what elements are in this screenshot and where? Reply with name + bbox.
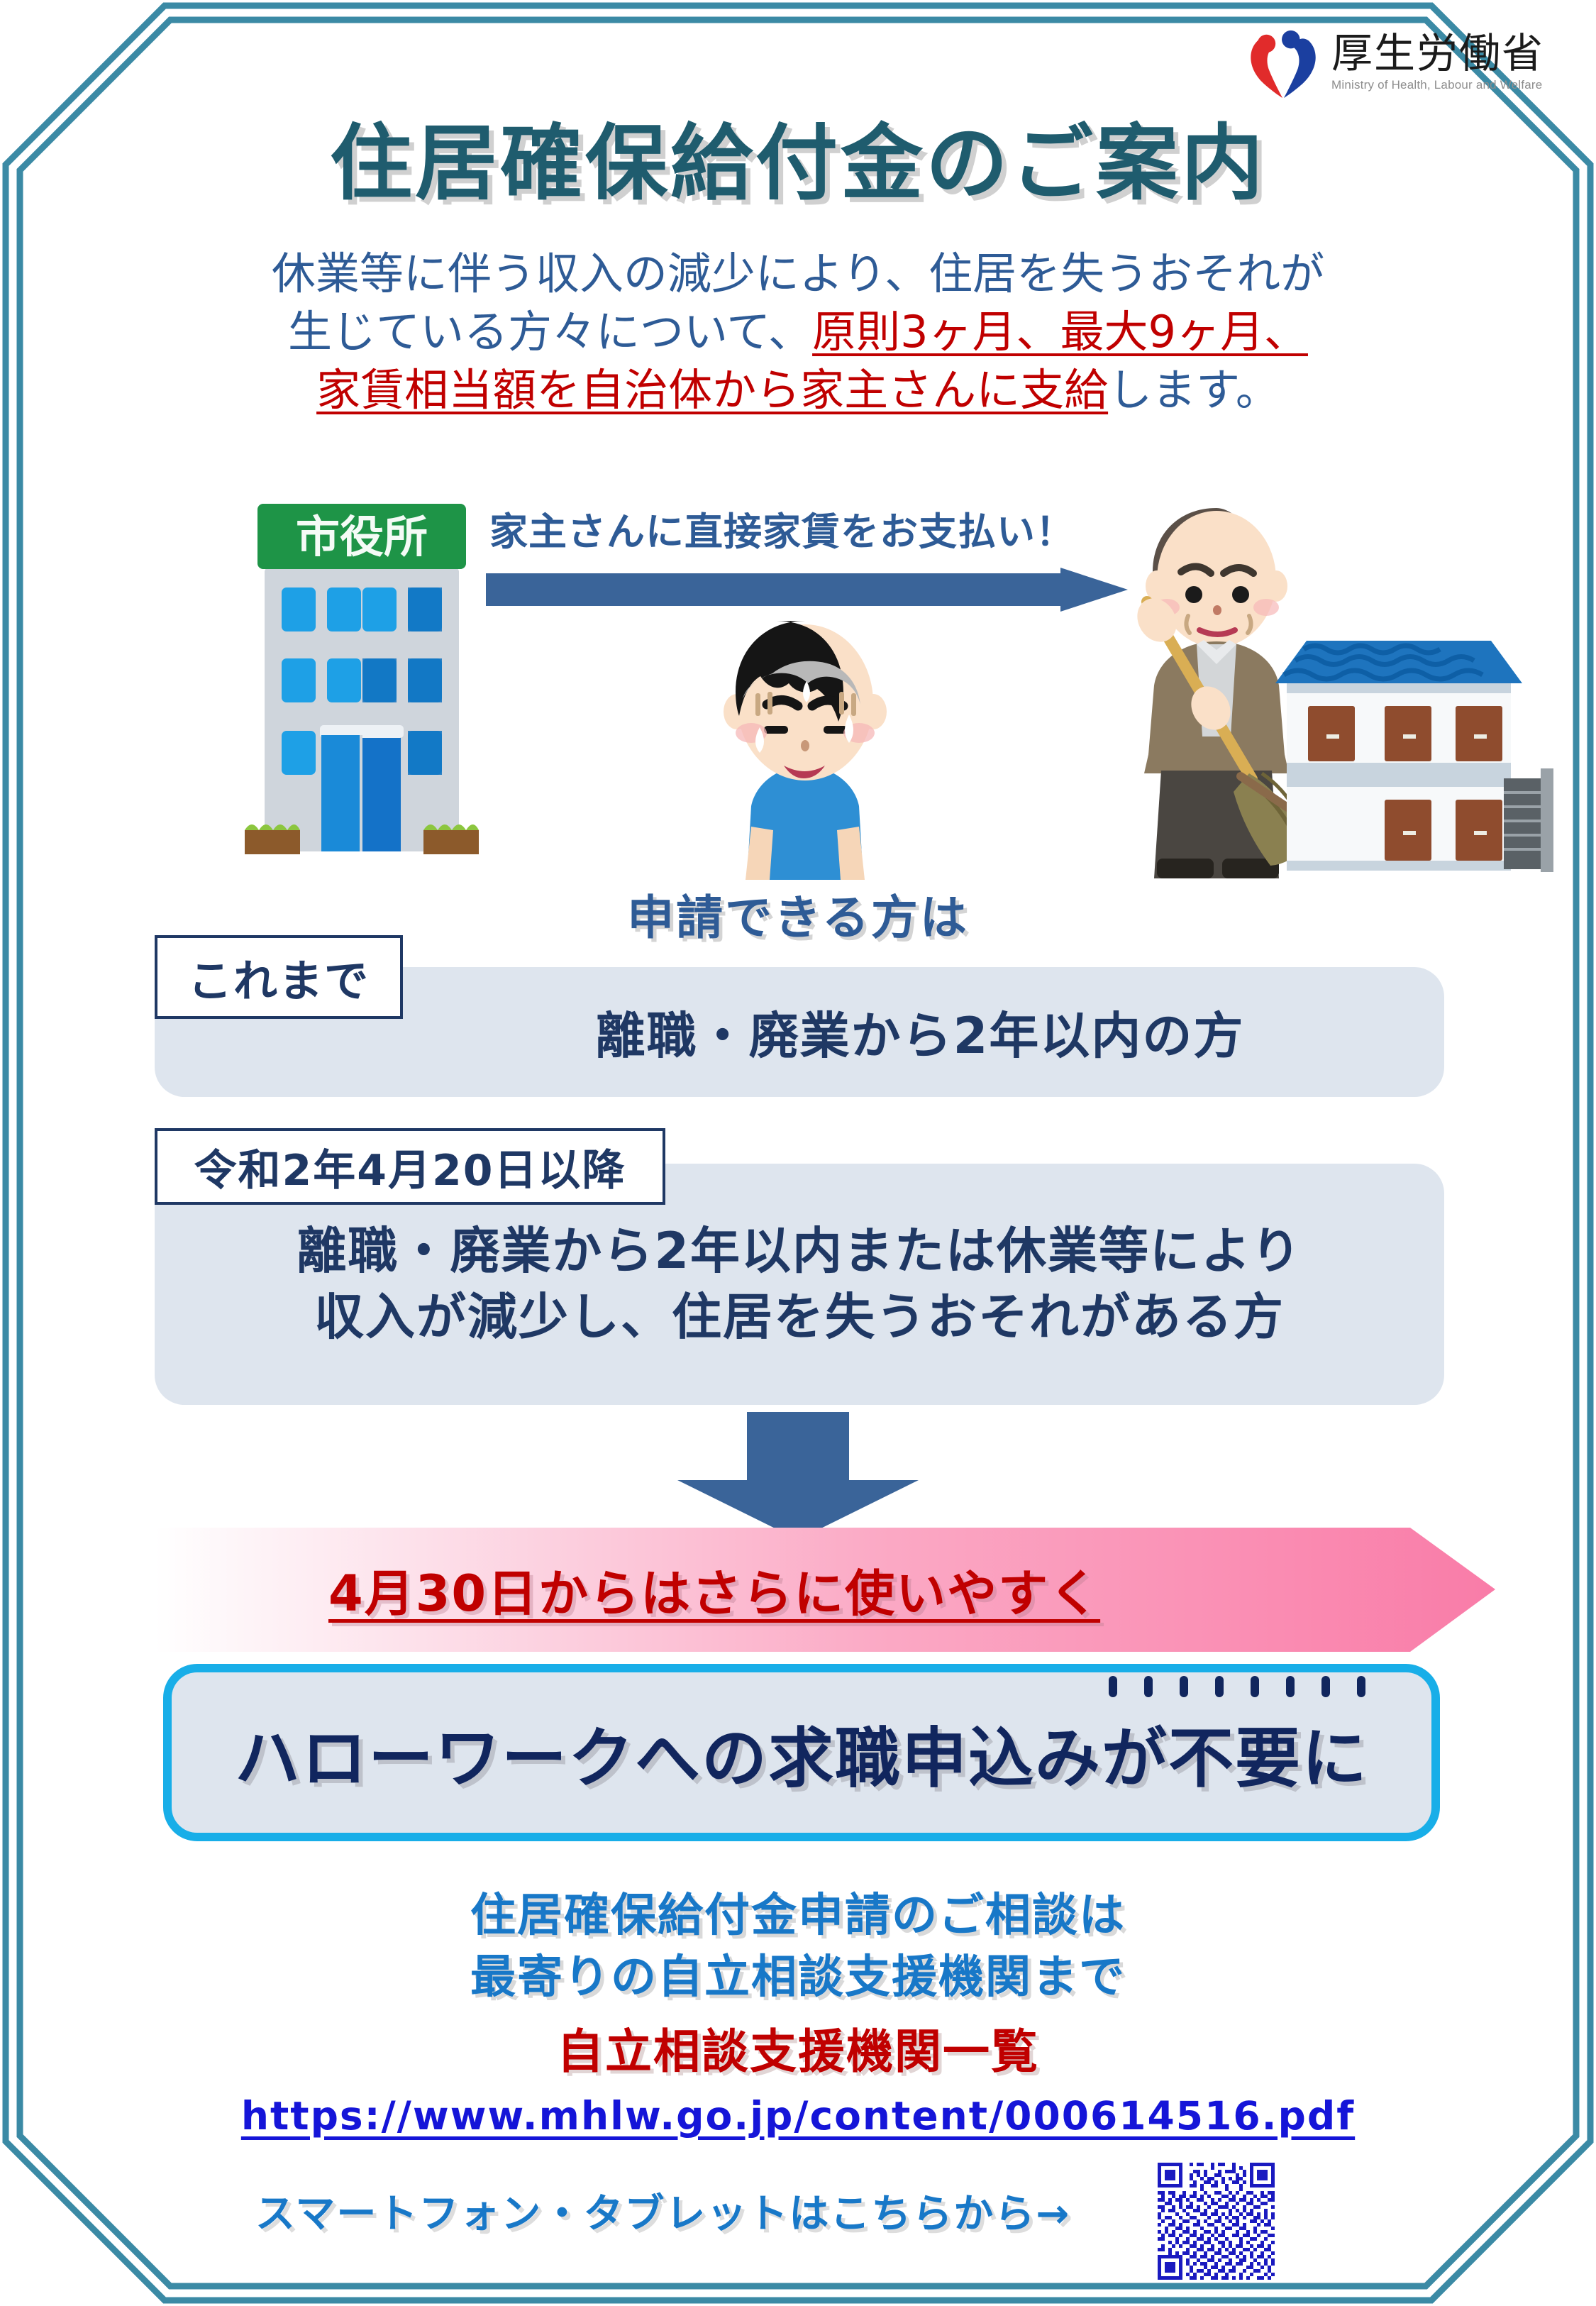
worried-boy-illustration-icon [699, 614, 911, 880]
illustration-band: 市役所 家主さんに直接家賃をお支払い！ [0, 490, 1596, 887]
apartment-house-illustration-icon [1263, 614, 1561, 880]
svg-text:市役所: 市役所 [296, 511, 428, 563]
lead-paragraph: 休業等に伴う収入の減少により、住居を失うおそれが 生じている方々について、原則3… [128, 245, 1468, 419]
eligibility-past-text: 離職・廃業から2年以内の方 [596, 996, 1245, 1068]
ministry-name-en: Ministry of Health, Labour and Welfare [1331, 78, 1544, 92]
lead-line-3-plain: します。 [1108, 364, 1280, 416]
ministry-logo: 厚生労働省 Ministry of Health, Labour and Wel… [1245, 20, 1578, 105]
update-highlight-text: ハローワークへの求職申込みが不要に [235, 1706, 1368, 1800]
footer-line-1: 住居確保給付金申請のご相談は [0, 1879, 1596, 1944]
footer-mobile-note: スマートフォン・タブレットはこちらから→ [255, 2182, 1070, 2239]
emphasis-dots [1109, 1676, 1365, 1697]
payment-arrow-label: 家主さんに直接家賃をお支払い！ [489, 500, 1075, 556]
poster-root: 厚生労働省 Ministry of Health, Labour and Wel… [0, 0, 1596, 2306]
lead-line-2-plain: 生じている方々について、 [288, 306, 812, 358]
update-banner: 4月30日からはさらに使いやすく [155, 1528, 1495, 1652]
eligibility-current-badge: 令和2年4月20日以降 [155, 1128, 665, 1205]
footer-list-title: 自立相談支援機関一覧 [0, 2014, 1596, 2082]
mhlw-heart-people-logo-icon [1245, 26, 1321, 99]
page-title: 住居確保給付金のご案内 [0, 119, 1596, 208]
eligibility-current-line-1: 離職・廃業から2年以内または休業等により [297, 1218, 1302, 1284]
qr-code-icon[interactable] [1158, 2163, 1275, 2280]
lead-line-2-emphasis: 原則3ヶ月、最大9ヶ月、 [812, 306, 1308, 358]
down-arrow-icon [677, 1412, 919, 1540]
lead-line-3-emphasis: 家賃相当額を自治体から家主さんに支給 [316, 364, 1108, 416]
update-highlight-box: ハローワークへの求職申込みが不要に [163, 1664, 1440, 1841]
ministry-name-ja: 厚生労働省 [1331, 33, 1544, 75]
right-arrow-icon [486, 568, 1128, 612]
update-banner-text: 4月30日からはさらに使いやすく [155, 1528, 1495, 1652]
eligibility-past-badge: これまで [155, 935, 403, 1019]
footer-url-link[interactable]: https://www.mhlw.go.jp/content/000614516… [0, 2093, 1596, 2139]
lead-line-1: 休業等に伴う収入の減少により、住居を失うおそれが [128, 245, 1468, 303]
city-hall-building-illustration-icon: 市役所 [245, 497, 479, 873]
eligibility-current-line-2: 収入が減少し、住居を失うおそれがある方 [314, 1284, 1285, 1350]
footer-line-2: 最寄りの自立相談支援機関まで [0, 1941, 1596, 2006]
